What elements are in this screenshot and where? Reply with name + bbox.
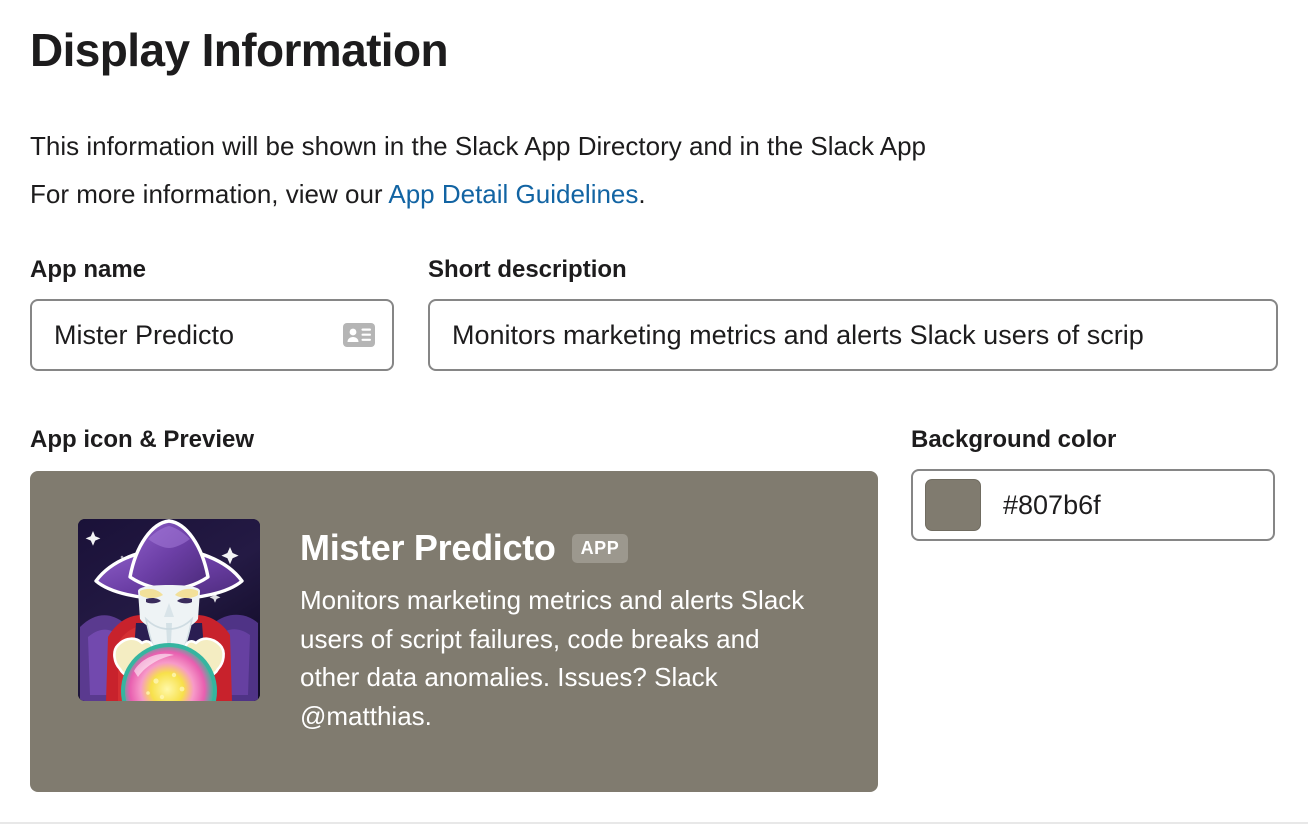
short-description-input[interactable]: Monitors marketing metrics and alerts Sl… [428,299,1278,371]
background-color-value: #807b6f [1003,488,1101,522]
bottom-divider [0,822,1308,824]
preview-description: Monitors marketing metrics and alerts Sl… [300,581,810,735]
short-description-field-group: Short description Monitors marketing met… [428,255,1278,371]
app-name-value: Mister Predicto [32,318,392,352]
intro-line-2-prefix: For more information, view our [30,179,388,209]
app-icon-preview-label: App icon & Preview [30,425,878,455]
app-name-input[interactable]: Mister Predicto [30,299,394,371]
preview-app-title: Mister Predicto [300,527,556,569]
preview-text-block: Mister Predicto APP Monitors marketing m… [300,519,810,735]
app-name-field-group: App name Mister Predicto [30,255,394,371]
intro-line-2-suffix: . [638,179,645,209]
display-information-page: Display Information This information wil… [0,0,1308,828]
background-color-label: Background color [911,425,1275,455]
short-description-label: Short description [428,255,1278,285]
app-icon-preview-group: App icon & Preview [30,425,878,792]
intro-paragraph: This information will be shown in the Sl… [30,122,1150,218]
wizard-with-crystal-ball-icon[interactable] [78,519,260,701]
app-detail-guidelines-link[interactable]: App Detail Guidelines [388,179,638,209]
background-color-input[interactable]: #807b6f [911,469,1275,541]
app-name-label: App name [30,255,394,285]
background-color-field-group: Background color #807b6f [911,425,1275,541]
intro-line-1: This information will be shown in the Sl… [30,131,926,161]
short-description-value: Monitors marketing metrics and alerts Sl… [430,318,1276,352]
preview-title-row: Mister Predicto APP [300,527,810,569]
contact-card-icon[interactable] [342,322,376,348]
color-swatch[interactable] [925,479,981,531]
app-badge: APP [572,534,629,563]
app-preview-card: Mister Predicto APP Monitors marketing m… [30,471,878,792]
page-title: Display Information [30,22,448,78]
